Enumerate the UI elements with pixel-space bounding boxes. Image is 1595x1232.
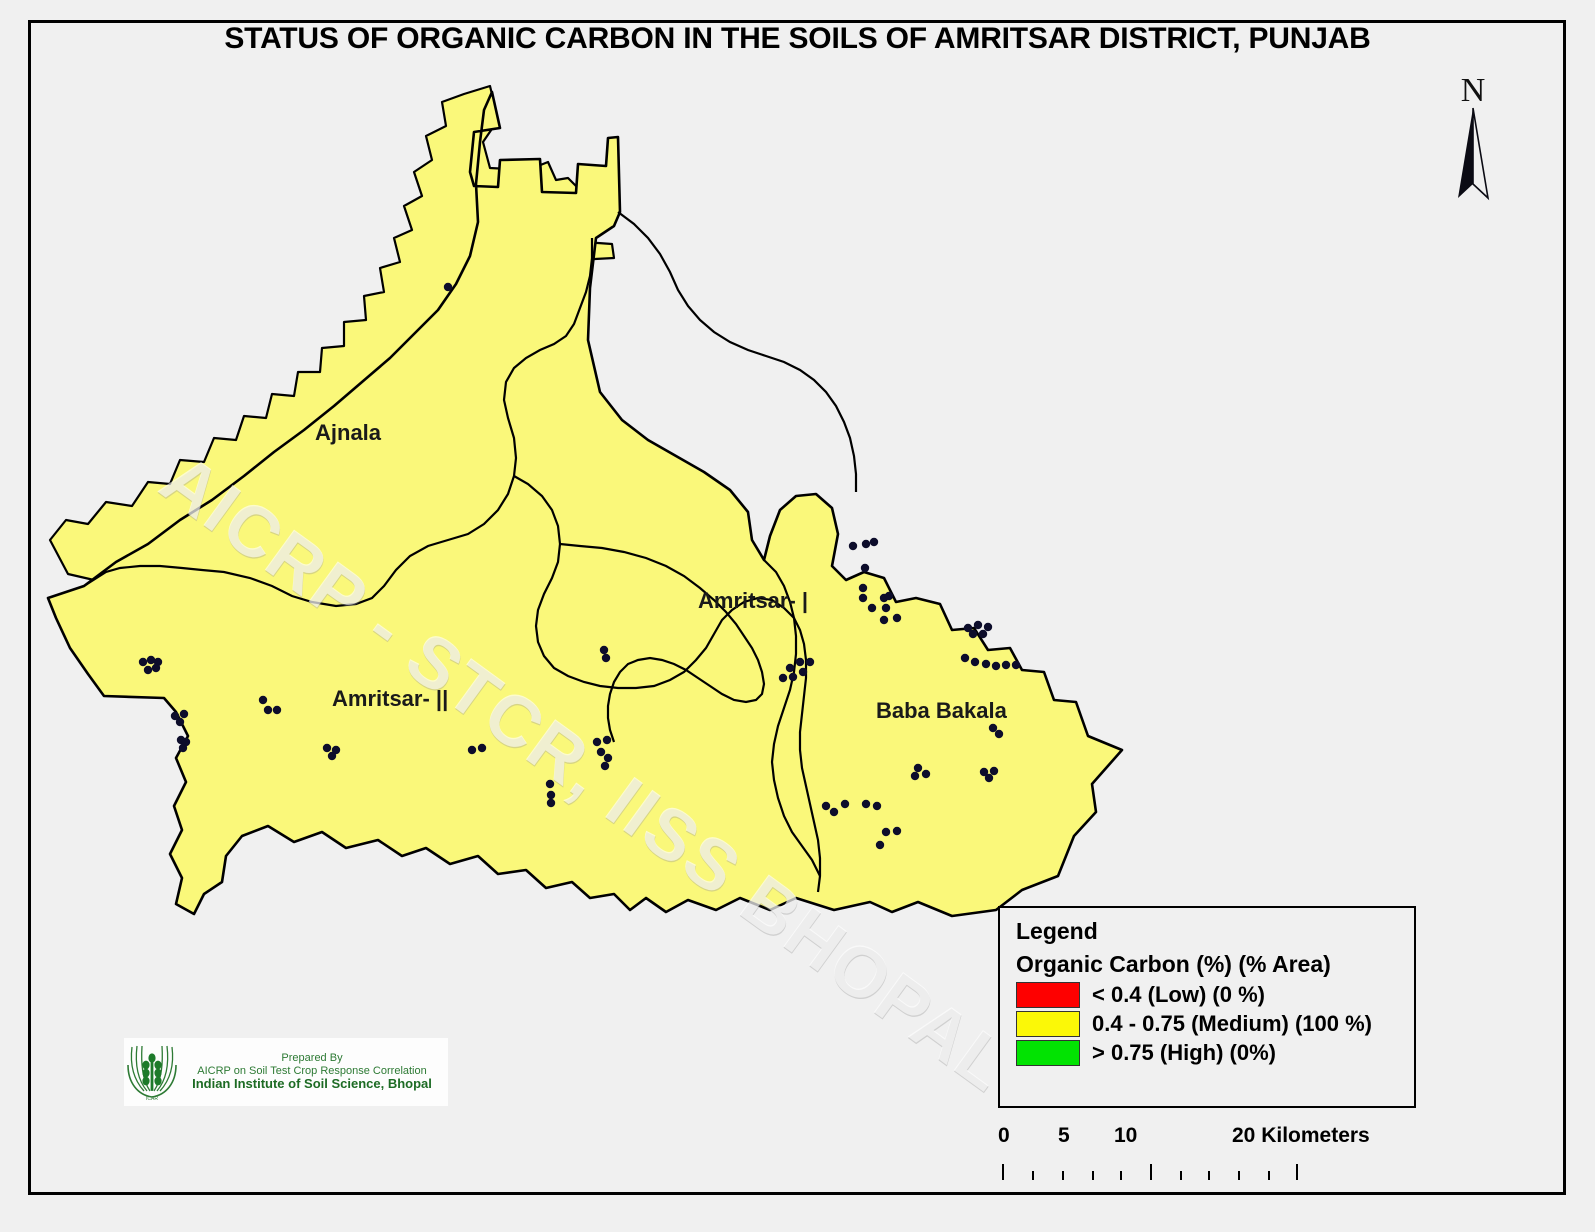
- region-label-amritsar-2: Amritsar- ||: [332, 686, 448, 712]
- scale-tick-minor: [1032, 1171, 1034, 1180]
- legend-swatch-high: [1016, 1040, 1080, 1066]
- sample-point: [786, 664, 794, 672]
- legend-label-high: > 0.75 (High) (0%): [1092, 1040, 1276, 1066]
- page-title: STATUS OF ORGANIC CARBON IN THE SOILS OF…: [0, 22, 1595, 56]
- sample-point: [893, 614, 901, 622]
- sample-point: [873, 802, 881, 810]
- region-label-baba-bakala: Baba Bakala: [876, 698, 1007, 724]
- sample-point: [547, 791, 555, 799]
- scale-label-10: 10: [1114, 1124, 1137, 1148]
- wheat-sheaf-icon: [124, 1041, 180, 1103]
- legend-row-low: < 0.4 (Low) (0 %): [1016, 982, 1414, 1008]
- sample-point: [139, 658, 147, 666]
- sample-point: [984, 623, 992, 631]
- icar-logo-caption: ICAR: [124, 1097, 180, 1103]
- scale-bar-labels: 0 5 10 20 Kilometers: [990, 1124, 1410, 1154]
- sample-point: [862, 540, 870, 548]
- legend-title: Legend: [1016, 918, 1414, 945]
- scale-tick-minor: [1180, 1171, 1182, 1180]
- north-arrow-icon: [1418, 72, 1528, 202]
- map-page: STATUS OF ORGANIC CARBON IN THE SOILS OF…: [0, 0, 1595, 1232]
- sample-point: [974, 621, 982, 629]
- sample-point: [323, 744, 331, 752]
- sample-point: [1012, 661, 1020, 669]
- sample-point: [992, 662, 1000, 670]
- sample-point: [799, 668, 807, 676]
- sample-point: [176, 718, 184, 726]
- sample-point: [789, 673, 797, 681]
- icar-logo: ICAR: [124, 1041, 180, 1103]
- sample-point: [961, 654, 969, 662]
- scale-tick-minor: [1062, 1171, 1064, 1180]
- sample-point: [893, 827, 901, 835]
- sample-point: [779, 674, 787, 682]
- sample-point: [806, 658, 814, 666]
- sample-point: [547, 799, 555, 807]
- legend-swatch-low: [1016, 982, 1080, 1008]
- sample-point: [971, 658, 979, 666]
- sample-point: [862, 800, 870, 808]
- sample-point: [849, 542, 857, 550]
- sample-point: [602, 654, 610, 662]
- sample-point: [444, 283, 452, 291]
- sample-point: [593, 738, 601, 746]
- sample-point: [870, 538, 878, 546]
- sample-point: [922, 770, 930, 778]
- legend: Legend Organic Carbon (%) (% Area) < 0.4…: [998, 906, 1416, 1108]
- sample-point: [1002, 661, 1010, 669]
- sample-point: [273, 706, 281, 714]
- sample-point: [546, 780, 554, 788]
- sample-point: [259, 696, 267, 704]
- region-label-ajnala: Ajnala: [315, 420, 381, 446]
- region-label-amritsar-1: Amritsar- |: [698, 588, 808, 614]
- legend-swatch-medium: [1016, 1011, 1080, 1037]
- sample-point: [911, 772, 919, 780]
- scale-tick-major: [1002, 1164, 1004, 1180]
- scale-tick-minor: [1092, 1171, 1094, 1180]
- scale-bar-ticks: [990, 1158, 1410, 1180]
- scale-label-5: 5: [1058, 1124, 1070, 1148]
- sample-point: [603, 736, 611, 744]
- sample-point: [985, 774, 993, 782]
- sample-point: [264, 706, 272, 714]
- sample-point: [982, 660, 990, 668]
- district-outer-shape: [48, 92, 1122, 916]
- sample-point: [876, 841, 884, 849]
- scale-bar: 0 5 10 20 Kilometers: [990, 1124, 1410, 1186]
- legend-row-medium: 0.4 - 0.75 (Medium) (100 %): [1016, 1011, 1414, 1037]
- sample-point: [841, 800, 849, 808]
- sample-point: [830, 808, 838, 816]
- sample-point: [859, 594, 867, 602]
- sample-point: [182, 738, 190, 746]
- sample-point: [180, 710, 188, 718]
- legend-label-medium: 0.4 - 0.75 (Medium) (100 %): [1092, 1011, 1372, 1037]
- scale-tick-minor: [1238, 1171, 1240, 1180]
- sample-point: [478, 744, 486, 752]
- scale-label-20-kilometers: 20 Kilometers: [1232, 1124, 1370, 1148]
- legend-label-low: < 0.4 (Low) (0 %): [1092, 982, 1265, 1008]
- credit-block: ICAR Prepared By AICRP on Soil Test Crop…: [124, 1038, 448, 1106]
- sample-point: [144, 666, 152, 674]
- scale-tick-minor: [1268, 1171, 1270, 1180]
- scale-tick-major: [1150, 1164, 1152, 1180]
- sample-point: [601, 762, 609, 770]
- sample-point: [995, 730, 1003, 738]
- sample-point: [468, 746, 476, 754]
- sample-point: [328, 752, 336, 760]
- north-arrow: N: [1418, 72, 1528, 202]
- scale-tick-minor: [1120, 1171, 1122, 1180]
- sample-point: [859, 584, 867, 592]
- sample-point: [882, 828, 890, 836]
- sample-point: [868, 604, 876, 612]
- sample-point: [979, 630, 987, 638]
- sample-point: [989, 724, 997, 732]
- sample-point: [796, 658, 804, 666]
- sample-point: [885, 592, 893, 600]
- scale-tick-major: [1296, 1164, 1298, 1180]
- credit-line-3: Indian Institute of Soil Science, Bhopal: [180, 1077, 444, 1092]
- legend-row-high: > 0.75 (High) (0%): [1016, 1040, 1414, 1066]
- sample-point: [597, 748, 605, 756]
- scale-label-0: 0: [998, 1124, 1010, 1148]
- credit-text: Prepared By AICRP on Soil Test Crop Resp…: [180, 1052, 448, 1091]
- credit-line-1: Prepared By: [180, 1052, 444, 1064]
- sample-point: [861, 564, 869, 572]
- sample-point: [152, 664, 160, 672]
- sample-point: [822, 802, 830, 810]
- sample-point: [969, 630, 977, 638]
- sample-point: [604, 754, 612, 762]
- sample-point: [880, 616, 888, 624]
- scale-tick-minor: [1208, 1171, 1210, 1180]
- sample-point: [990, 767, 998, 775]
- sample-point: [882, 604, 890, 612]
- legend-subtitle: Organic Carbon (%) (% Area): [1016, 951, 1414, 978]
- sample-point: [600, 646, 608, 654]
- sample-point: [914, 764, 922, 772]
